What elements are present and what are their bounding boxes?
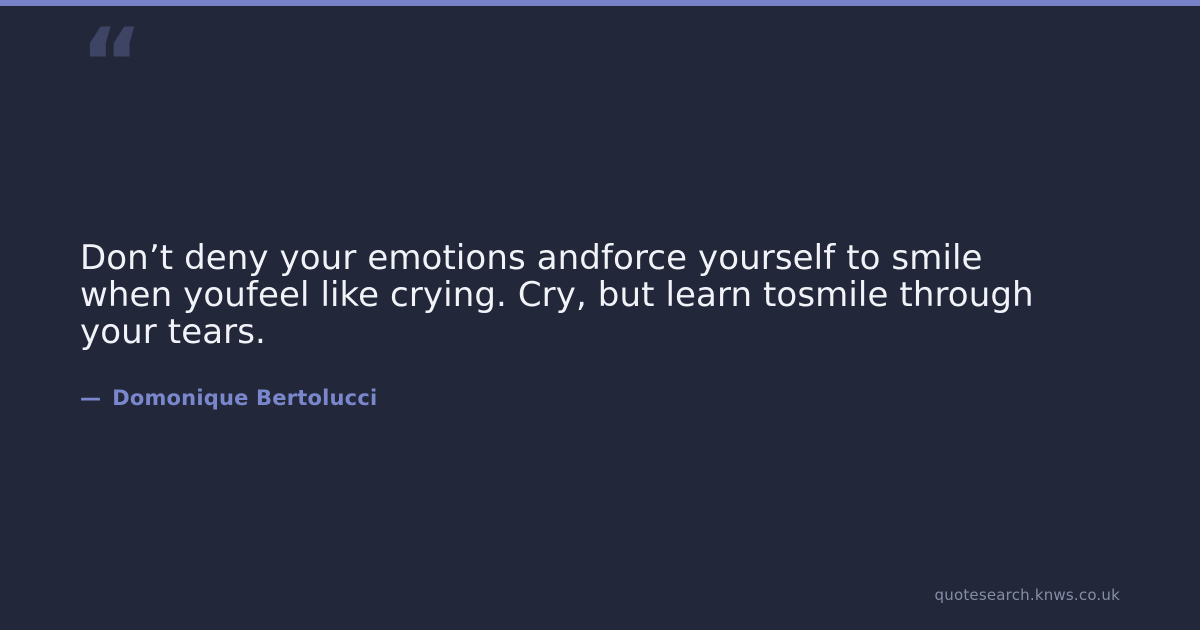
quote-content: Don’t deny your emotions andforce yourse… bbox=[80, 240, 1120, 410]
quotation-mark-icon: “ bbox=[80, 16, 141, 112]
quote-attribution: — Domonique Bertolucci bbox=[80, 386, 1120, 410]
author-name: Domonique Bertolucci bbox=[112, 386, 377, 410]
em-dash: — bbox=[80, 386, 101, 410]
source-website-url: quotesearch.knws.co.uk bbox=[935, 586, 1120, 604]
top-accent-bar bbox=[0, 0, 1200, 6]
quote-text: Don’t deny your emotions andforce yourse… bbox=[80, 240, 1070, 351]
quote-card: “ Don’t deny your emotions andforce your… bbox=[0, 0, 1200, 630]
